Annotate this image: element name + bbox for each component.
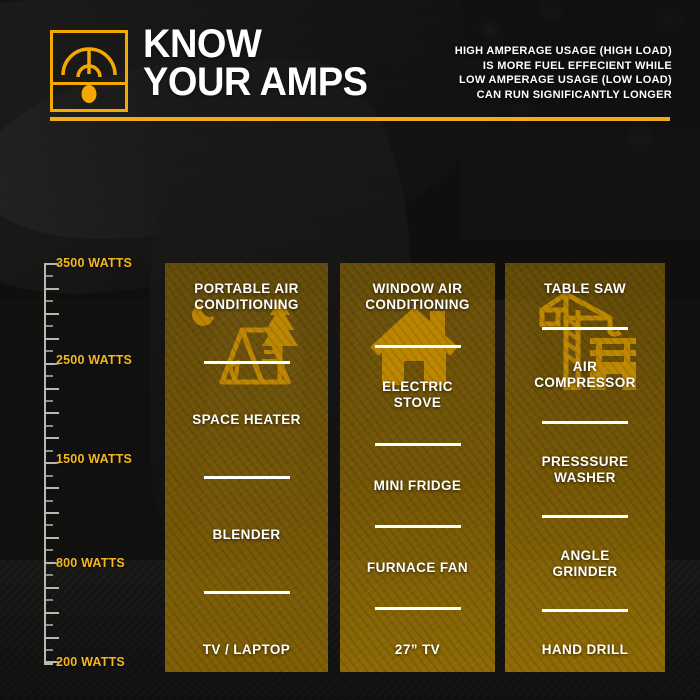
appliance-item: 27” TV [395,642,440,658]
column-camping[interactable]: PORTABLE AIR CONDITIONINGSPACE HEATERBLE… [165,263,328,672]
column-camping-items: PORTABLE AIR CONDITIONINGSPACE HEATERBLE… [165,263,328,672]
appliance-item: AIR COMPRESSOR [534,359,636,391]
column-home-items: WINDOW AIR CONDITIONINGELECTRIC STOVEMIN… [340,263,495,672]
appliance-item: SPACE HEATER [192,412,301,428]
item-separator [375,345,461,348]
appliance-item: ANGLE GRINDER [552,548,617,580]
column-home[interactable]: WINDOW AIR CONDITIONINGELECTRIC STOVEMIN… [340,263,495,672]
item-separator [542,609,628,612]
appliance-item: WINDOW AIR CONDITIONING [365,281,470,313]
item-separator [375,525,461,528]
item-separator [542,421,628,424]
appliance-item: BLENDER [212,527,280,543]
item-separator [375,607,461,610]
item-separator [542,515,628,518]
appliance-item: FURNACE FAN [367,560,468,576]
item-separator [204,476,290,479]
appliance-item: HAND DRILL [542,642,629,658]
appliance-item: MINI FRIDGE [374,478,462,494]
column-construction[interactable]: TABLE SAWAIR COMPRESSORPRESSSURE WASHERA… [505,263,665,672]
appliance-item: TABLE SAW [544,281,626,297]
item-separator [375,443,461,446]
appliance-item: PRESSSURE WASHER [542,454,629,486]
appliance-item: TV / LAPTOP [203,642,290,658]
appliance-columns: PORTABLE AIR CONDITIONINGSPACE HEATERBLE… [0,0,700,700]
item-separator [204,361,290,364]
item-separator [542,327,628,330]
column-construction-items: TABLE SAWAIR COMPRESSORPRESSSURE WASHERA… [505,263,665,672]
appliance-item: PORTABLE AIR CONDITIONING [194,281,299,313]
item-separator [204,591,290,594]
appliance-item: ELECTRIC STOVE [382,379,453,411]
